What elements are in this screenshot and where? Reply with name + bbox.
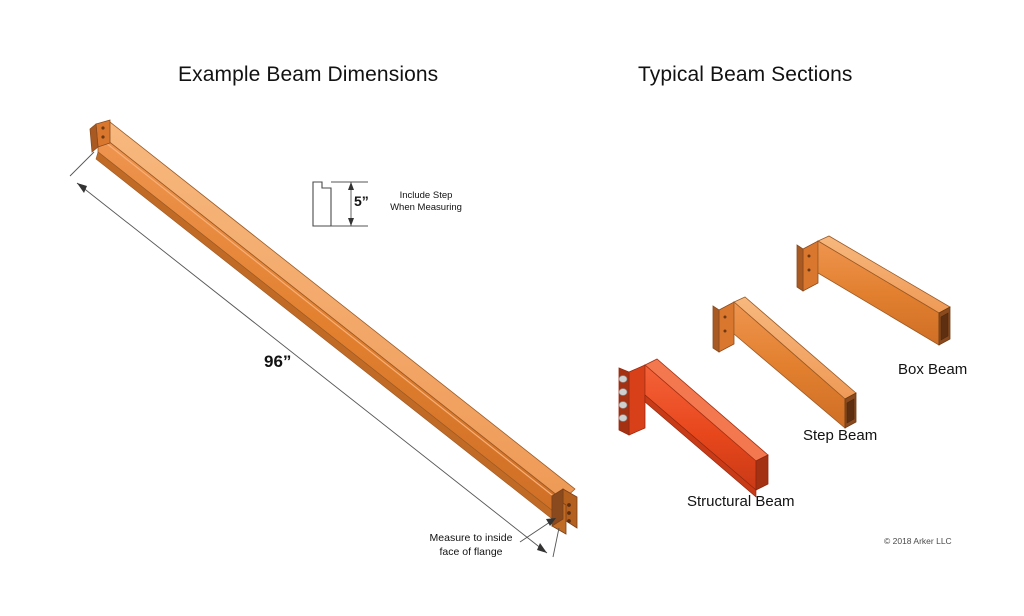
beam-label-step-beam: Step Beam [803, 427, 877, 445]
page-title-right: Typical Beam Sections [638, 62, 853, 88]
height-dimension-label: 5” [354, 193, 369, 210]
height-arrow-bottom [348, 218, 354, 226]
step-beam-front-face [734, 302, 845, 428]
height-arrow-top [348, 182, 354, 190]
box-beam-connector-side [797, 245, 803, 291]
beam-label-structural-beam: Structural Beam [687, 493, 795, 511]
beam-illustration-svg [0, 0, 1024, 616]
structural-beam-end-face [756, 455, 768, 490]
beam-highlight-line [101, 139, 566, 506]
flange-note-leader [520, 518, 556, 542]
page-title-left: Example Beam Dimensions [178, 62, 438, 88]
dim-arrow-right [537, 543, 547, 553]
step-beam-connector-side [713, 306, 719, 352]
structural-beam-connector-plate [629, 365, 645, 435]
structural-beam-web [645, 365, 756, 490]
step-beam-connector-plate [719, 302, 734, 352]
step-beam-graphic [713, 297, 856, 428]
example-beam-graphic [70, 120, 577, 557]
profile-outline [313, 182, 331, 226]
beam-label-box-beam: Box Beam [898, 361, 967, 379]
dim-arrow-left [77, 183, 87, 193]
measure-to-flange-note: Measure to inside face of flange [424, 532, 518, 559]
box-beam-hollow-cavity [941, 313, 948, 340]
beam-right-connector [552, 489, 577, 534]
include-step-note: Include Step When Measuring [378, 190, 474, 213]
structural-beam-graphic [619, 359, 768, 497]
box-beam-graphic [797, 236, 950, 345]
length-dimension-label: 96” [264, 352, 291, 373]
beam-step-ledge [98, 122, 575, 500]
box-beam-connector-plate [803, 241, 818, 291]
copyright-notice: © 2018 Arker LLC [884, 536, 952, 546]
step-beam-hollow-cavity [847, 399, 854, 423]
diagram-canvas: Example Beam Dimensions Typical Beam Sec… [0, 0, 1024, 616]
